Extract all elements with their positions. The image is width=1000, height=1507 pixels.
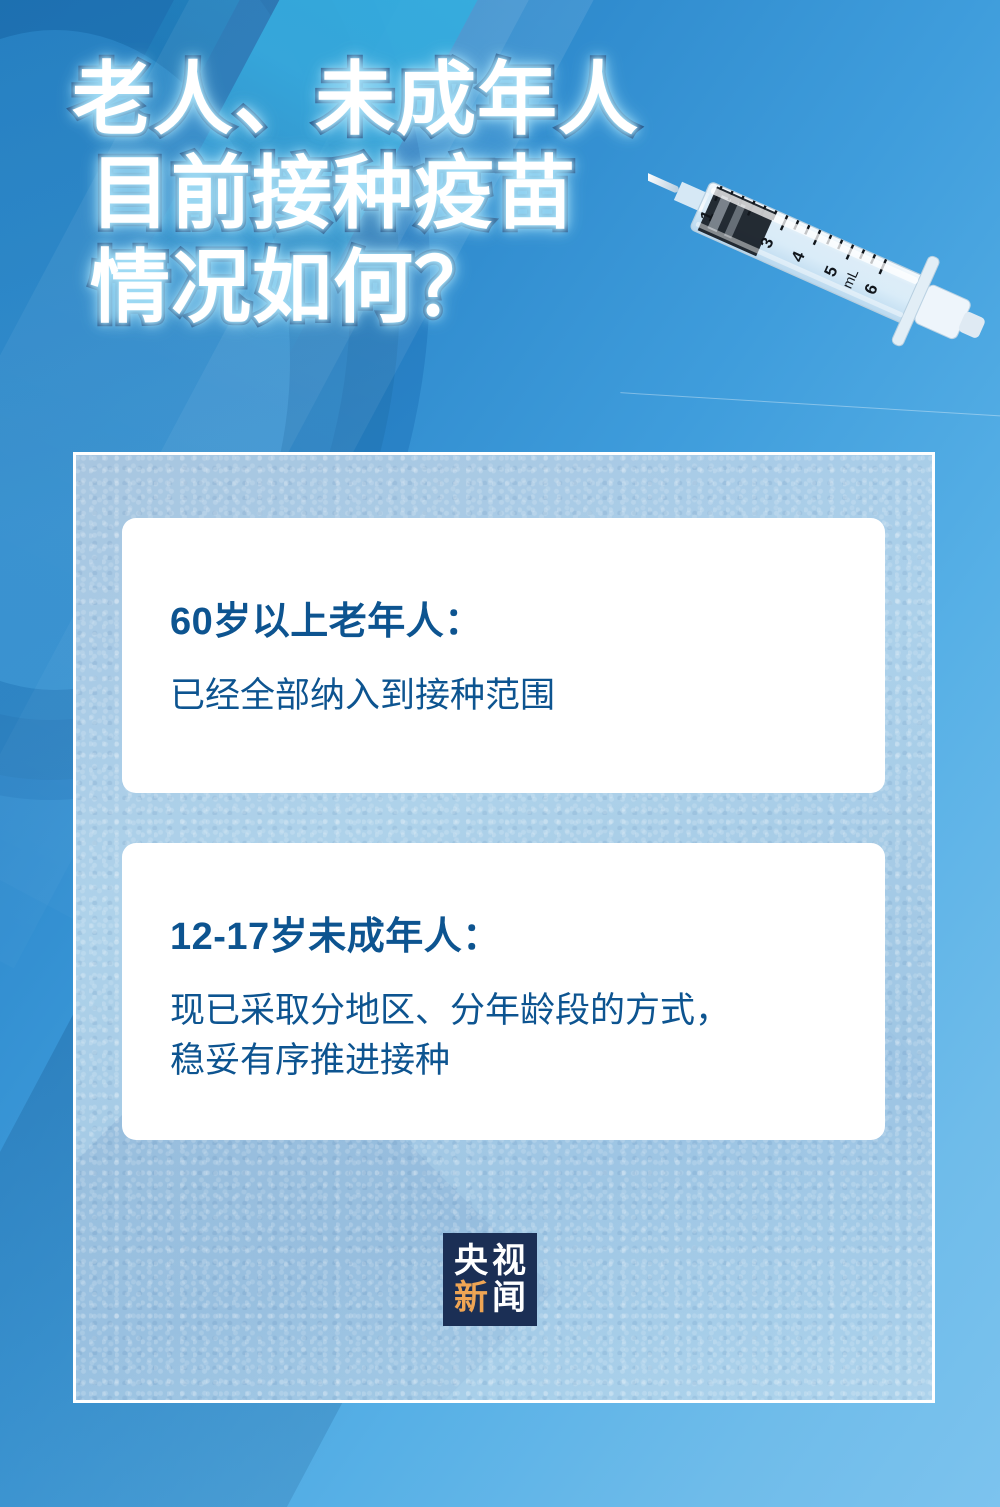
- poster-root: 1 3 4 5 mL 6 老人、未成年人 目前接种疫苗 情况如何？: [0, 0, 1000, 1507]
- info-card-minors: 12-17岁未成年人： 现已采取分地区、分年龄段的方式， 稳妥有序推进接种: [122, 843, 885, 1140]
- headline-line-2: 目前接种疫苗: [90, 154, 792, 234]
- card-body-line: 已经全部纳入到接种范围: [170, 671, 885, 721]
- logo-char-xin: 新: [452, 1281, 490, 1315]
- card-body: 已经全部纳入到接种范围: [170, 671, 885, 721]
- card-body: 现已采取分地区、分年龄段的方式， 稳妥有序推进接种: [170, 986, 885, 1085]
- card-body-line: 现已采取分地区、分年龄段的方式，: [170, 986, 885, 1036]
- logo-char-yang: 央: [452, 1244, 490, 1278]
- cctv-news-logo: 央 视 新 闻: [443, 1233, 537, 1326]
- background-hairline: [620, 392, 1000, 419]
- card-heading: 12-17岁未成年人：: [170, 905, 885, 960]
- logo-row-bottom: 新 闻: [452, 1281, 528, 1315]
- card-heading: 60岁以上老年人：: [170, 590, 885, 645]
- info-card-elderly: 60岁以上老年人： 已经全部纳入到接种范围: [122, 518, 885, 793]
- page-title: 老人、未成年人 目前接种疫苗 情况如何？: [72, 60, 792, 342]
- headline-line-1: 老人、未成年人: [72, 60, 792, 140]
- logo-row-top: 央 视: [452, 1244, 528, 1278]
- logo-char-shi: 视: [490, 1244, 528, 1278]
- headline-line-3: 情况如何？: [90, 248, 792, 328]
- card-body-line: 稳妥有序推进接种: [170, 1036, 885, 1086]
- logo-char-wen: 闻: [490, 1281, 528, 1315]
